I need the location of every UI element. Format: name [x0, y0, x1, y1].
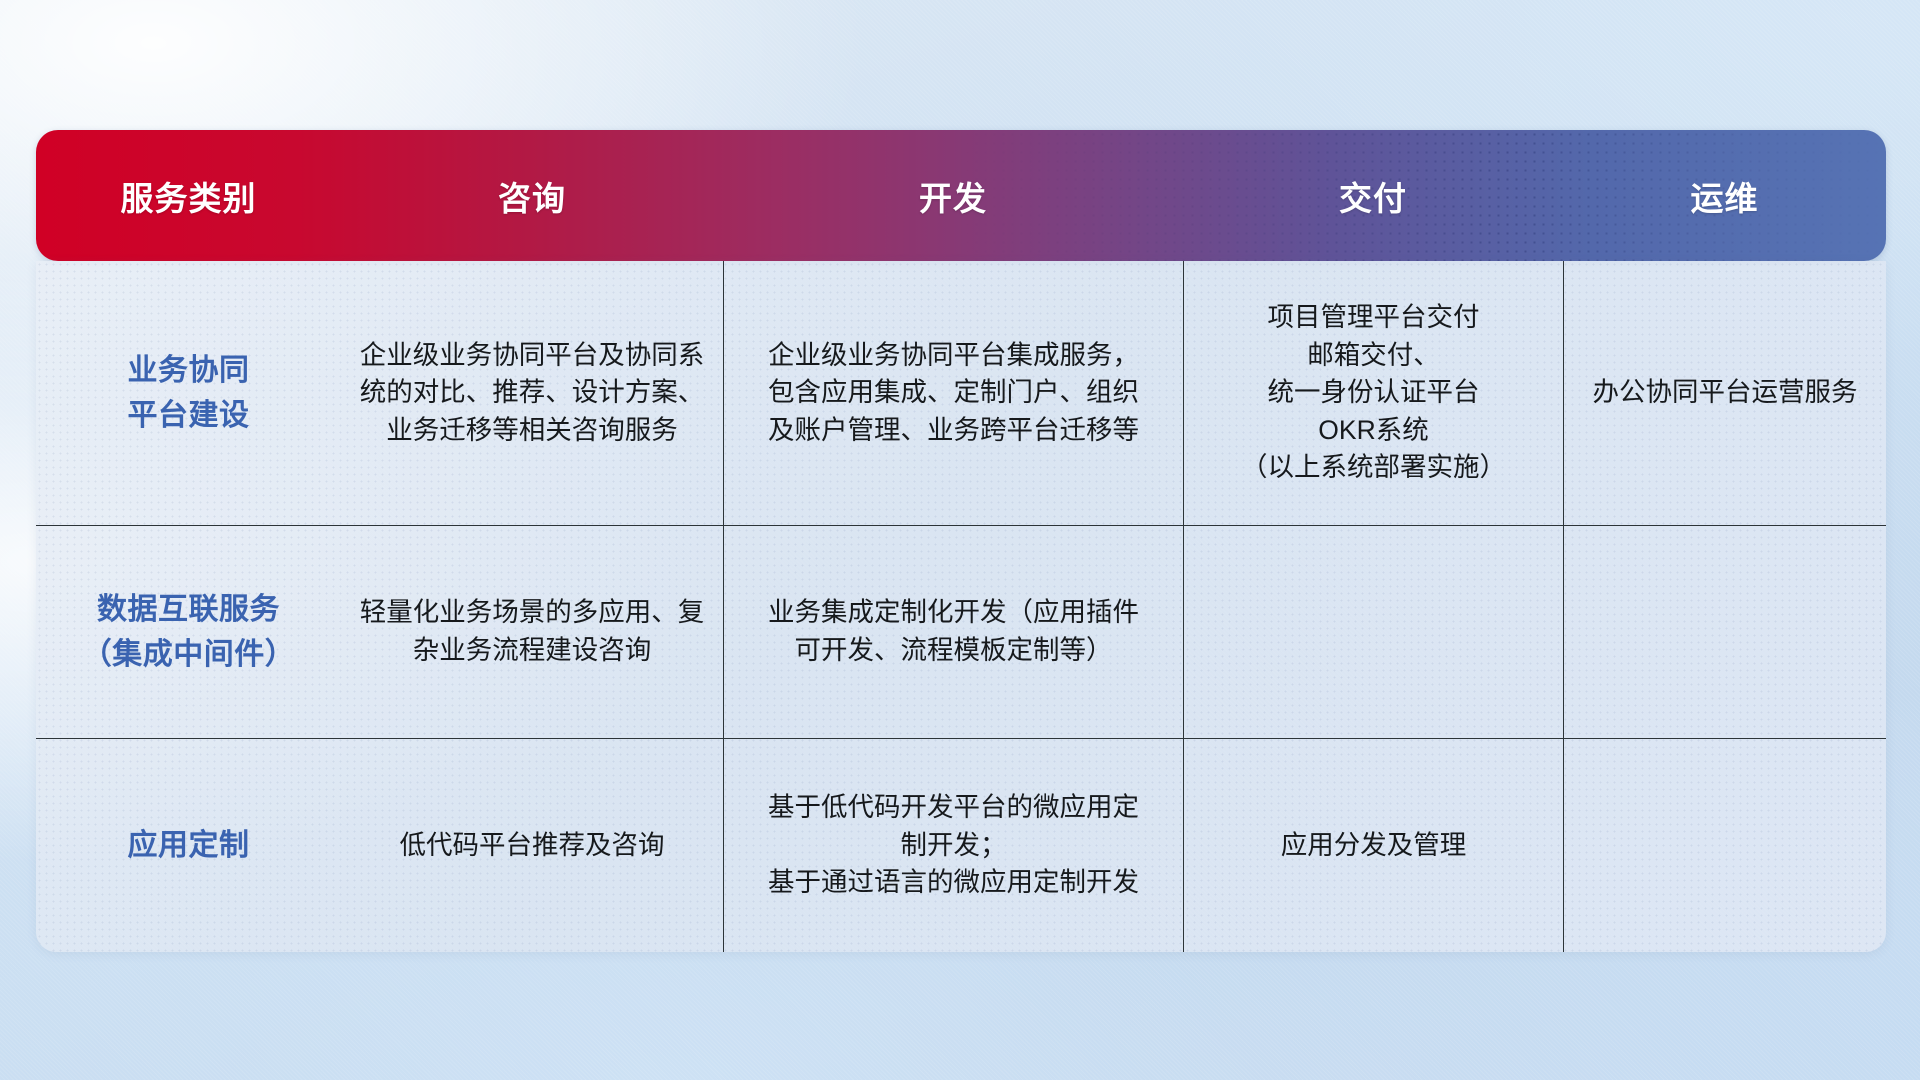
cell-deliver: 应用分发及管理: [1183, 739, 1563, 952]
table-row: 数据互联服务 （集成中间件） 轻量化业务场景的多应用、复 杂业务流程建设咨询 业…: [36, 525, 1886, 738]
cell-ops: 办公协同平台运营服务: [1563, 261, 1886, 525]
cell-text: 应用定制: [128, 823, 250, 868]
row-category-label: 应用定制: [36, 739, 341, 952]
row-category-label: 数据互联服务 （集成中间件）: [36, 526, 341, 738]
cell-ops: [1563, 739, 1886, 952]
cell-develop: 基于低代码开发平台的微应用定 制开发； 基于通过语言的微应用定制开发: [723, 739, 1183, 952]
cell-text: 低代码平台推荐及咨询: [400, 827, 665, 865]
cell-consult: 企业级业务协同平台及协同系 统的对比、推荐、设计方案、 业务迁移等相关咨询服务: [341, 261, 723, 525]
row-category-label: 业务协同 平台建设: [36, 261, 341, 525]
cell-text: 企业级业务协同平台及协同系 统的对比、推荐、设计方案、 业务迁移等相关咨询服务: [360, 337, 705, 450]
cell-text: 企业级业务协同平台集成服务， 包含应用集成、定制门户、组织 及账户管理、业务跨平…: [768, 337, 1139, 450]
cell-ops: [1563, 526, 1886, 738]
table-body: 业务协同 平台建设 企业级业务协同平台及协同系 统的对比、推荐、设计方案、 业务…: [36, 261, 1886, 952]
cell-text: 基于低代码开发平台的微应用定 制开发； 基于通过语言的微应用定制开发: [768, 789, 1139, 902]
cell-deliver: 项目管理平台交付 邮箱交付、 统一身份认证平台 OKR系统 （以上系统部署实施）: [1183, 261, 1563, 525]
column-header-consult: 咨询: [341, 130, 723, 261]
table-header-row: 服务类别 咨询 开发 交付 运维: [36, 130, 1886, 261]
table-row: 业务协同 平台建设 企业级业务协同平台及协同系 统的对比、推荐、设计方案、 业务…: [36, 261, 1886, 525]
column-header-deliver: 交付: [1183, 130, 1563, 261]
cell-text: 业务集成定制化开发（应用插件 可开发、流程模板定制等）: [768, 594, 1139, 669]
column-header-ops: 运维: [1563, 130, 1886, 261]
column-header-develop: 开发: [723, 130, 1183, 261]
cell-text: 轻量化业务场景的多应用、复 杂业务流程建设咨询: [360, 594, 705, 669]
cell-text: 数据互联服务 （集成中间件）: [82, 587, 296, 677]
cell-text: 业务协同 平台建设: [128, 348, 250, 438]
column-header-category: 服务类别: [36, 130, 341, 261]
cell-consult: 轻量化业务场景的多应用、复 杂业务流程建设咨询: [341, 526, 723, 738]
cell-text: 办公协同平台运营服务: [1593, 374, 1858, 412]
cell-deliver: [1183, 526, 1563, 738]
service-matrix-table: 服务类别 咨询 开发 交付 运维 业务协同 平台建设 企业级业务协同平台及协同系…: [36, 130, 1886, 952]
cell-develop: 企业级业务协同平台集成服务， 包含应用集成、定制门户、组织 及账户管理、业务跨平…: [723, 261, 1183, 525]
cell-develop: 业务集成定制化开发（应用插件 可开发、流程模板定制等）: [723, 526, 1183, 738]
cell-text: 应用分发及管理: [1281, 827, 1467, 865]
cell-consult: 低代码平台推荐及咨询: [341, 739, 723, 952]
cell-text: 项目管理平台交付 邮箱交付、 统一身份认证平台 OKR系统 （以上系统部署实施）: [1241, 299, 1506, 487]
table-row: 应用定制 低代码平台推荐及咨询 基于低代码开发平台的微应用定 制开发； 基于通过…: [36, 738, 1886, 952]
